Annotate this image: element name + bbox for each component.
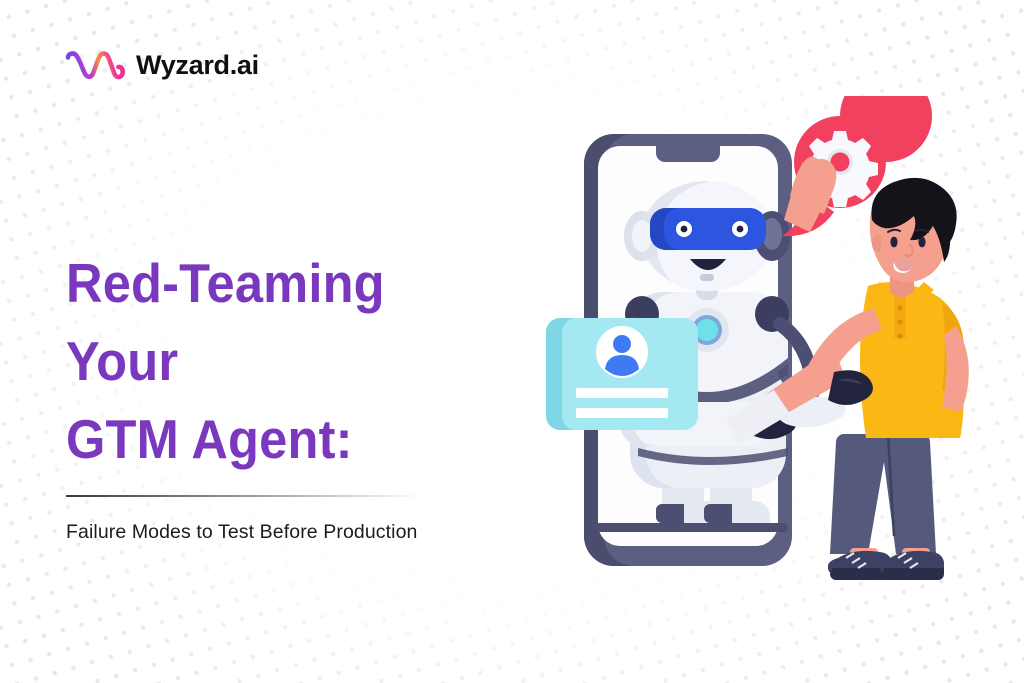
hero-text-block: Red-Teaming Your GTM Agent: Failure Mode… (66, 244, 486, 544)
id-card (546, 318, 698, 430)
title-divider (66, 495, 421, 497)
wyzard-w-mark-icon (64, 45, 126, 85)
ai-agent-chatbot-illustration (538, 96, 1018, 596)
poster-canvas: Wyzard.ai Red-Teaming Your GTM Agent: Fa… (0, 0, 1024, 683)
avatar-icon (596, 326, 648, 378)
brand-name-label: Wyzard.ai (136, 50, 259, 81)
page-title: Red-Teaming Your GTM Agent: (66, 244, 452, 478)
page-subtitle: Failure Modes to Test Before Production (66, 521, 486, 544)
brand-logo[interactable]: Wyzard.ai (64, 45, 259, 85)
